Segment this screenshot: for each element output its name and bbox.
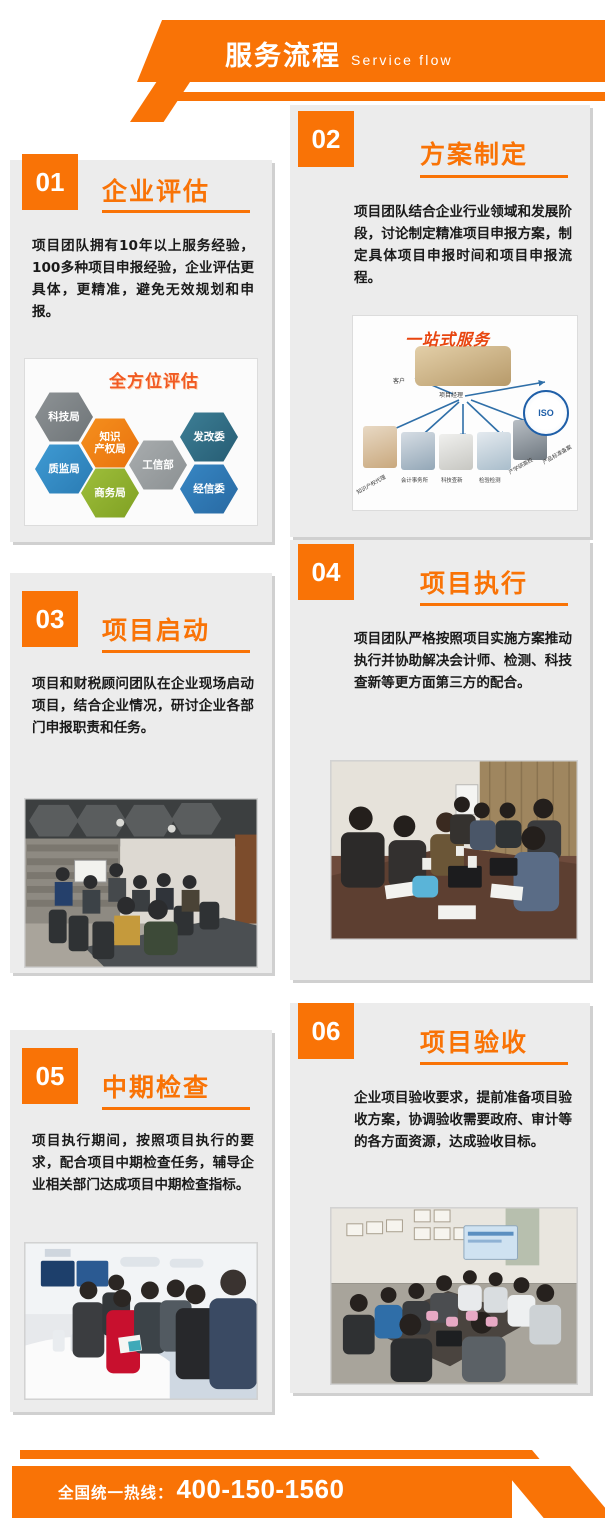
step-card-01[interactable]: 01 企业评估 项目团队拥有10年以上服务经验，100多种项目申报经验，企业评估… — [10, 160, 272, 542]
header-accent-chevron — [130, 82, 190, 122]
step-title: 中期检查 — [102, 1068, 210, 1104]
iso-seal-icon: ISO — [523, 390, 569, 436]
title-underline — [102, 1107, 250, 1110]
service-node-1-thumb — [363, 426, 397, 468]
step-card-06[interactable]: 06 项目验收 企业项目验收要求，提前准备项目验收方案，协调验收需要政府、审计等… — [290, 1003, 590, 1393]
step-title: 方案制定 — [420, 135, 528, 171]
step-title: 项目验收 — [420, 1023, 528, 1059]
step-number-badge: 06 — [298, 1003, 354, 1059]
step-photo — [24, 1242, 258, 1400]
hex-node-fagai: 发改委 — [180, 411, 238, 463]
header-title-group: 服务流程 Service flow — [225, 34, 453, 73]
step-photo — [330, 1207, 578, 1385]
footer-top-stripe-angle — [470, 1450, 540, 1459]
hex-node-jingxin: 经信委 — [180, 463, 238, 515]
step-title: 项目执行 — [420, 564, 528, 600]
step-description: 项目和财税顾问团队在企业现场启动项目，结合企业情况，研讨企业各部门申报职责和任务… — [32, 673, 254, 739]
service-node-label-2: 会计事务所 — [401, 476, 428, 484]
service-center-label: 项目经理 — [439, 390, 463, 399]
one-stop-service-figure: 一站式服务 — [352, 315, 578, 511]
header-underline-stripe — [150, 92, 605, 101]
service-node-2-thumb — [401, 432, 435, 470]
hexagon-assessment-figure: 全方位评估 科技局 知识 产权局 发改委 质监局 工信部 商务局 经信委 — [24, 358, 258, 526]
step-description: 项目执行期间，按照项目执行的要求，配合项目中期检查任务，辅导企业相关部门达成项目… — [32, 1130, 254, 1196]
page-header: 服务流程 Service flow — [0, 0, 605, 122]
hexagon-figure-title: 全方位评估 — [109, 367, 199, 392]
hex-node-shangwu: 商务局 — [81, 467, 139, 519]
title-underline — [420, 1062, 568, 1065]
service-node-3-thumb — [439, 434, 473, 470]
service-node-label-3: 科技查新 — [441, 476, 463, 484]
hotline-label: 全国统一热线： — [58, 1481, 174, 1503]
service-node-label-4: 检验检测 — [479, 476, 501, 484]
footer-banner-angle — [500, 1466, 605, 1518]
step-description: 项目团队拥有10年以上服务经验，100多种项目申报经验，企业评估更具体，更精准，… — [32, 235, 254, 323]
hex-node-gongxin: 工信部 — [129, 439, 187, 491]
service-client-label: 客户 — [393, 376, 405, 385]
title-underline — [102, 210, 250, 213]
step-number-badge: 01 — [22, 154, 78, 210]
step-description: 企业项目验收要求，提前准备项目验收方案，协调验收需要政府、审计等的各方面资源，达… — [354, 1087, 572, 1153]
step-number-badge: 03 — [22, 591, 78, 647]
page-title: 服务流程 — [225, 34, 341, 73]
step-card-05[interactable]: 05 中期检查 项目执行期间，按照项目执行的要求，配合项目中期检查任务，辅导企业… — [10, 1030, 272, 1412]
step-photo — [24, 798, 258, 968]
title-underline — [420, 603, 568, 606]
service-center-photo — [415, 346, 511, 386]
step-description: 项目团队严格按照项目实施方案推动执行并协助解决会计师、检测、科技查新等更方面第三… — [354, 628, 572, 694]
step-card-03[interactable]: 03 项目启动 项目和财税顾问团队在企业现场启动项目，结合企业情况，研讨企业各部… — [10, 573, 272, 973]
step-number-badge: 04 — [298, 544, 354, 600]
step-photo — [330, 760, 578, 940]
hotline-number[interactable]: 400-150-1560 — [177, 1474, 345, 1505]
page-subtitle: Service flow — [351, 52, 453, 68]
infographic-page: 服务流程 Service flow 01 企业评估 项目团队拥有10年以上服务经… — [0, 0, 605, 1538]
step-number-badge: 05 — [22, 1048, 78, 1104]
step-description: 项目团队结合企业行业领域和发展阶段，讨论制定精准项目申报方案，制定具体项目申报时… — [354, 201, 572, 289]
hex-node-zhijian: 质监局 — [35, 443, 93, 495]
step-title: 项目启动 — [102, 611, 210, 647]
step-number-badge: 02 — [298, 111, 354, 167]
title-underline — [102, 650, 250, 653]
hex-node-keji: 科技局 — [35, 391, 93, 443]
step-card-02[interactable]: 02 方案制定 项目团队结合企业行业领域和发展阶段，讨论制定精准项目申报方案，制… — [290, 105, 590, 537]
hex-node-ipr: 知识 产权局 — [81, 417, 139, 469]
step-card-04[interactable]: 04 项目执行 项目团队严格按照项目实施方案推动执行并协助解决会计师、检测、科技… — [290, 540, 590, 980]
service-figure-title: 一站式服务 — [405, 326, 490, 350]
step-title: 企业评估 — [102, 172, 210, 208]
title-underline — [420, 175, 568, 178]
page-footer: 全国统一热线： 400-150-1560 — [0, 1420, 605, 1538]
hotline-group: 全国统一热线： 400-150-1560 — [58, 1474, 344, 1505]
service-node-4-thumb — [477, 432, 511, 470]
footer-top-stripe — [20, 1450, 482, 1459]
